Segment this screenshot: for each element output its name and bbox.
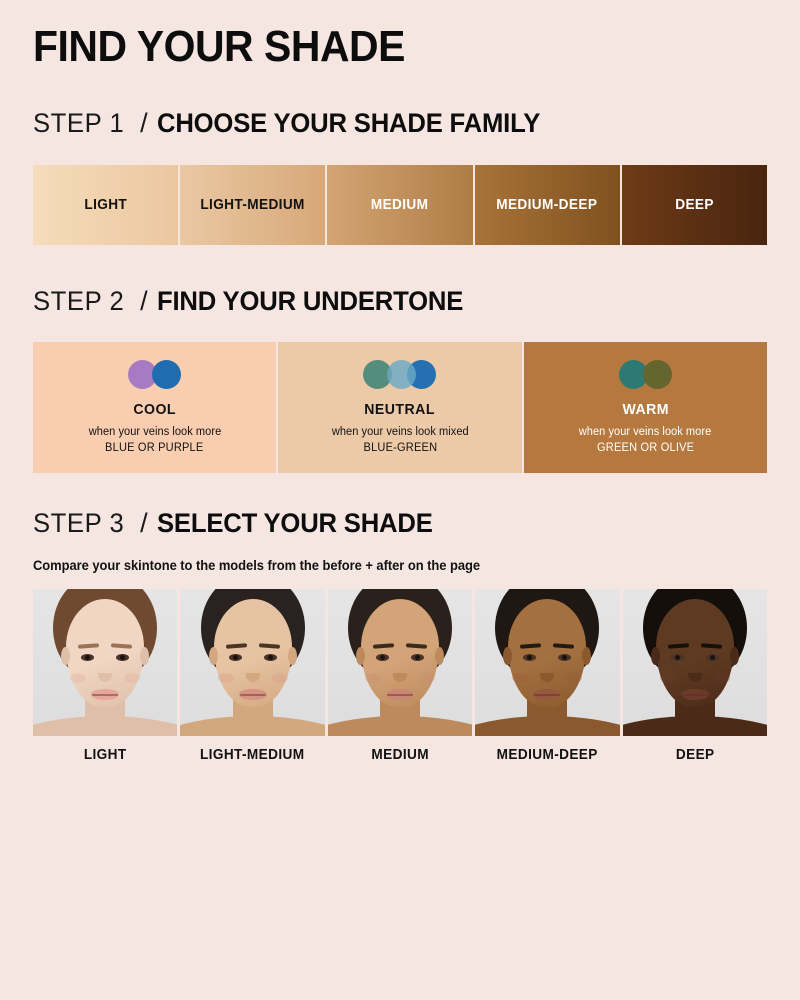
undertone-description-line-2: GREEN OR OLIVE [597, 442, 694, 455]
undertone-card[interactable]: NEUTRALwhen your veins look mixedBLUE-GR… [278, 342, 521, 473]
model-cheek [419, 673, 435, 683]
model-cheek [124, 673, 140, 683]
step-2-heading: STEP 2 / FIND YOUR UNDERTONE [33, 286, 479, 317]
model-cheek [714, 673, 730, 683]
model-lip-line [387, 694, 413, 696]
model-face [66, 599, 144, 707]
shade-family-swatch[interactable]: LIGHT-MEDIUM [180, 165, 325, 245]
model-shade-label: LIGHT-MEDIUM [185, 748, 321, 763]
model-eye [376, 654, 389, 661]
model-pupil [85, 655, 90, 660]
model-cheek [512, 673, 528, 683]
model-shade-label: LIGHT [37, 748, 173, 763]
model-nose [393, 673, 407, 682]
step-1-separator: / [140, 108, 148, 139]
undertone-dot-group [619, 359, 672, 389]
model-lip-line [682, 694, 708, 696]
undertone-color-dot-icon [643, 360, 672, 389]
model-cheek [218, 673, 234, 683]
step-3-heading: STEP 3 / SELECT YOUR SHADE [33, 508, 447, 539]
model-eyebrow [78, 643, 99, 648]
model-pupil [527, 655, 532, 660]
shade-family-swatch[interactable]: DEEP [622, 165, 767, 245]
undertone-card-row: COOLwhen your veins look moreBLUE OR PUR… [33, 342, 767, 473]
model-shade-label: MEDIUM [332, 748, 468, 763]
step-1-number: STEP 1 [33, 108, 124, 139]
page-title: FIND YOUR SHADE [33, 25, 405, 69]
model-face [508, 599, 586, 707]
step-2-label: FIND YOUR UNDERTONE [157, 286, 463, 317]
model-eyebrow [111, 643, 132, 648]
model-eye [706, 654, 719, 661]
model-pupil [233, 655, 238, 660]
model-photo[interactable] [33, 589, 177, 736]
model-ear [730, 647, 739, 665]
model-cheek [660, 673, 676, 683]
undertone-color-dot-icon [387, 360, 416, 389]
model-ear [209, 647, 218, 665]
model-label-row: LIGHTLIGHT-MEDIUMMEDIUMMEDIUM-DEEPDEEP [33, 748, 767, 763]
model-photo[interactable] [475, 589, 619, 736]
model-nose [540, 673, 554, 682]
undertone-dot-group [128, 359, 181, 389]
model-nose [688, 673, 702, 682]
model-lip-line [240, 694, 266, 696]
undertone-name: WARM [622, 402, 669, 417]
model-eye [264, 654, 277, 661]
undertone-description-line-1: when your veins look more [579, 426, 712, 439]
model-lip-line [534, 694, 560, 696]
model-nose [98, 673, 112, 682]
model-eye [558, 654, 571, 661]
undertone-name: COOL [133, 402, 176, 417]
undertone-name: NEUTRAL [365, 402, 436, 417]
model-eye [411, 654, 424, 661]
model-face [656, 599, 734, 707]
model-eyebrow [520, 643, 541, 648]
model-photo[interactable] [180, 589, 324, 736]
shade-family-swatch-label: MEDIUM [371, 198, 429, 213]
model-ear [356, 647, 365, 665]
undertone-description-line-2: BLUE OR PURPLE [105, 442, 203, 455]
step-2-separator: / [140, 286, 148, 317]
undertone-card[interactable]: COOLwhen your veins look moreBLUE OR PUR… [33, 342, 276, 473]
model-ear [435, 647, 444, 665]
model-eye [523, 654, 536, 661]
shade-finder-page: FIND YOUR SHADE STEP 1 / CHOOSE YOUR SHA… [0, 0, 800, 1000]
model-eyebrow [225, 643, 246, 648]
step-2-number: STEP 2 [33, 286, 124, 317]
model-pupil [415, 655, 420, 660]
model-eye [671, 654, 684, 661]
shade-family-swatch-label: LIGHT [84, 198, 127, 213]
step-3-subtitle: Compare your skintone to the models from… [33, 558, 480, 573]
model-nose [246, 673, 260, 682]
model-pupil [120, 655, 125, 660]
undertone-description-line-1: when your veins look mixed [332, 426, 469, 439]
model-eye [81, 654, 94, 661]
model-eyebrow [373, 643, 394, 648]
shade-family-swatch[interactable]: LIGHT [33, 165, 178, 245]
model-cheek [566, 673, 582, 683]
undertone-description-line-2: BLUE-GREEN [363, 442, 437, 455]
model-shade-label: DEEP [627, 748, 763, 763]
step-1-heading: STEP 1 / CHOOSE YOUR SHADE FAMILY [33, 108, 560, 139]
step-3-number: STEP 3 [33, 508, 124, 539]
model-pupil [268, 655, 273, 660]
model-face [214, 599, 292, 707]
step-1-label: CHOOSE YOUR SHADE FAMILY [157, 108, 540, 139]
shade-family-swatch[interactable]: MEDIUM-DEEP [475, 165, 620, 245]
model-pupil [675, 655, 680, 660]
undertone-card[interactable]: WARMwhen your veins look moreGREEN OR OL… [524, 342, 767, 473]
model-pupil [380, 655, 385, 660]
step-3-separator: / [140, 508, 148, 539]
model-eyebrow [701, 643, 722, 648]
model-pupil [710, 655, 715, 660]
step-3-label: SELECT YOUR SHADE [157, 508, 433, 539]
model-lip-line [92, 694, 118, 696]
model-photo[interactable] [328, 589, 472, 736]
model-photo-row [33, 589, 767, 736]
model-cheek [365, 673, 381, 683]
model-ear [651, 647, 660, 665]
model-eyebrow [406, 643, 427, 648]
model-eye [229, 654, 242, 661]
model-cheek [70, 673, 86, 683]
model-shade-label: MEDIUM-DEEP [480, 748, 616, 763]
undertone-dot-group [363, 359, 436, 389]
shade-family-swatch-label: DEEP [675, 198, 714, 213]
model-eyebrow [553, 643, 574, 648]
model-eye [116, 654, 129, 661]
undertone-description-line-1: when your veins look more [88, 426, 221, 439]
model-ear [288, 647, 297, 665]
model-pupil [562, 655, 567, 660]
model-photo[interactable] [623, 589, 767, 736]
undertone-color-dot-icon [152, 360, 181, 389]
shade-family-swatch[interactable]: MEDIUM [327, 165, 472, 245]
model-cheek [272, 673, 288, 683]
shade-family-swatch-label: MEDIUM-DEEP [497, 198, 598, 213]
model-eyebrow [668, 643, 689, 648]
model-eyebrow [258, 643, 279, 648]
shade-family-swatch-row: LIGHTLIGHT-MEDIUMMEDIUMMEDIUM-DEEPDEEP [33, 165, 767, 245]
shade-family-swatch-label: LIGHT-MEDIUM [201, 198, 305, 213]
model-face [361, 599, 439, 707]
